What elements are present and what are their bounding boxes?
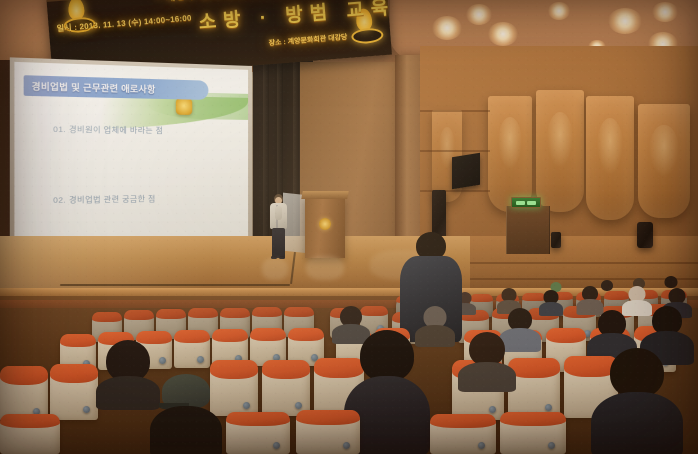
stage-side-door	[506, 206, 550, 254]
theater-seat	[500, 412, 566, 454]
banner-place: 장소 : 계양문화회관 대강당	[268, 32, 348, 48]
audience-member	[418, 306, 452, 340]
audience-member	[600, 348, 674, 454]
auditorium-photo: ~ 계양구 관내 공동주택 안전관리 간담 ~ 일시 : 2013. 11. 1…	[0, 0, 698, 454]
wall-trim-line	[420, 150, 490, 152]
audience-member	[578, 286, 602, 310]
floor-cable	[60, 284, 290, 286]
presenter-arms	[275, 206, 282, 220]
floor-reflection	[262, 258, 288, 280]
theater-seat	[0, 414, 60, 454]
floor-reflection	[306, 256, 344, 280]
loudspeaker	[551, 232, 561, 248]
audience-member	[498, 288, 520, 310]
audience-member	[100, 340, 156, 398]
slide-bullet: 02. 경비업법 관련 궁금한 점	[53, 193, 156, 206]
acoustic-panel	[488, 96, 532, 212]
audience-member	[352, 330, 422, 454]
audience-member	[540, 290, 562, 312]
wall-trim-line	[420, 110, 490, 112]
slide-title-bar: 경비업법 및 근무관련 애로사항	[24, 75, 209, 100]
slide-title: 경비업법 및 근무관련 애로사항	[24, 79, 156, 95]
acoustic-panel	[638, 104, 690, 218]
projection-screen: 경비업법 및 근무관련 애로사항 01. 경비원이 업체에 바라는 점 02. …	[14, 62, 248, 262]
slide-bullet: 01. 경비원이 업체에 바라는 점	[53, 123, 163, 136]
wall-trim-line	[420, 190, 490, 192]
acoustic-panel	[536, 90, 584, 212]
theater-seat	[226, 412, 290, 454]
wall-mounted-monitor	[452, 153, 480, 189]
theater-seat	[174, 330, 210, 368]
theater-seat	[296, 410, 360, 454]
theater-seat	[430, 414, 496, 454]
audience-member	[462, 332, 512, 386]
theater-seat	[210, 360, 258, 416]
podium-emblem-icon	[319, 218, 331, 230]
acoustic-panel	[586, 96, 634, 220]
audience-member	[646, 306, 688, 354]
presenter	[266, 194, 292, 260]
audience-member-with-cap	[156, 374, 216, 454]
podium	[305, 196, 345, 258]
exit-sign	[511, 197, 541, 208]
presenter-trousers	[272, 228, 285, 258]
slide-badge-icon	[176, 98, 192, 115]
theater-seat	[262, 360, 310, 416]
loudspeaker	[637, 222, 653, 248]
podium-top-surface	[301, 191, 348, 199]
theater-seat	[50, 364, 98, 420]
